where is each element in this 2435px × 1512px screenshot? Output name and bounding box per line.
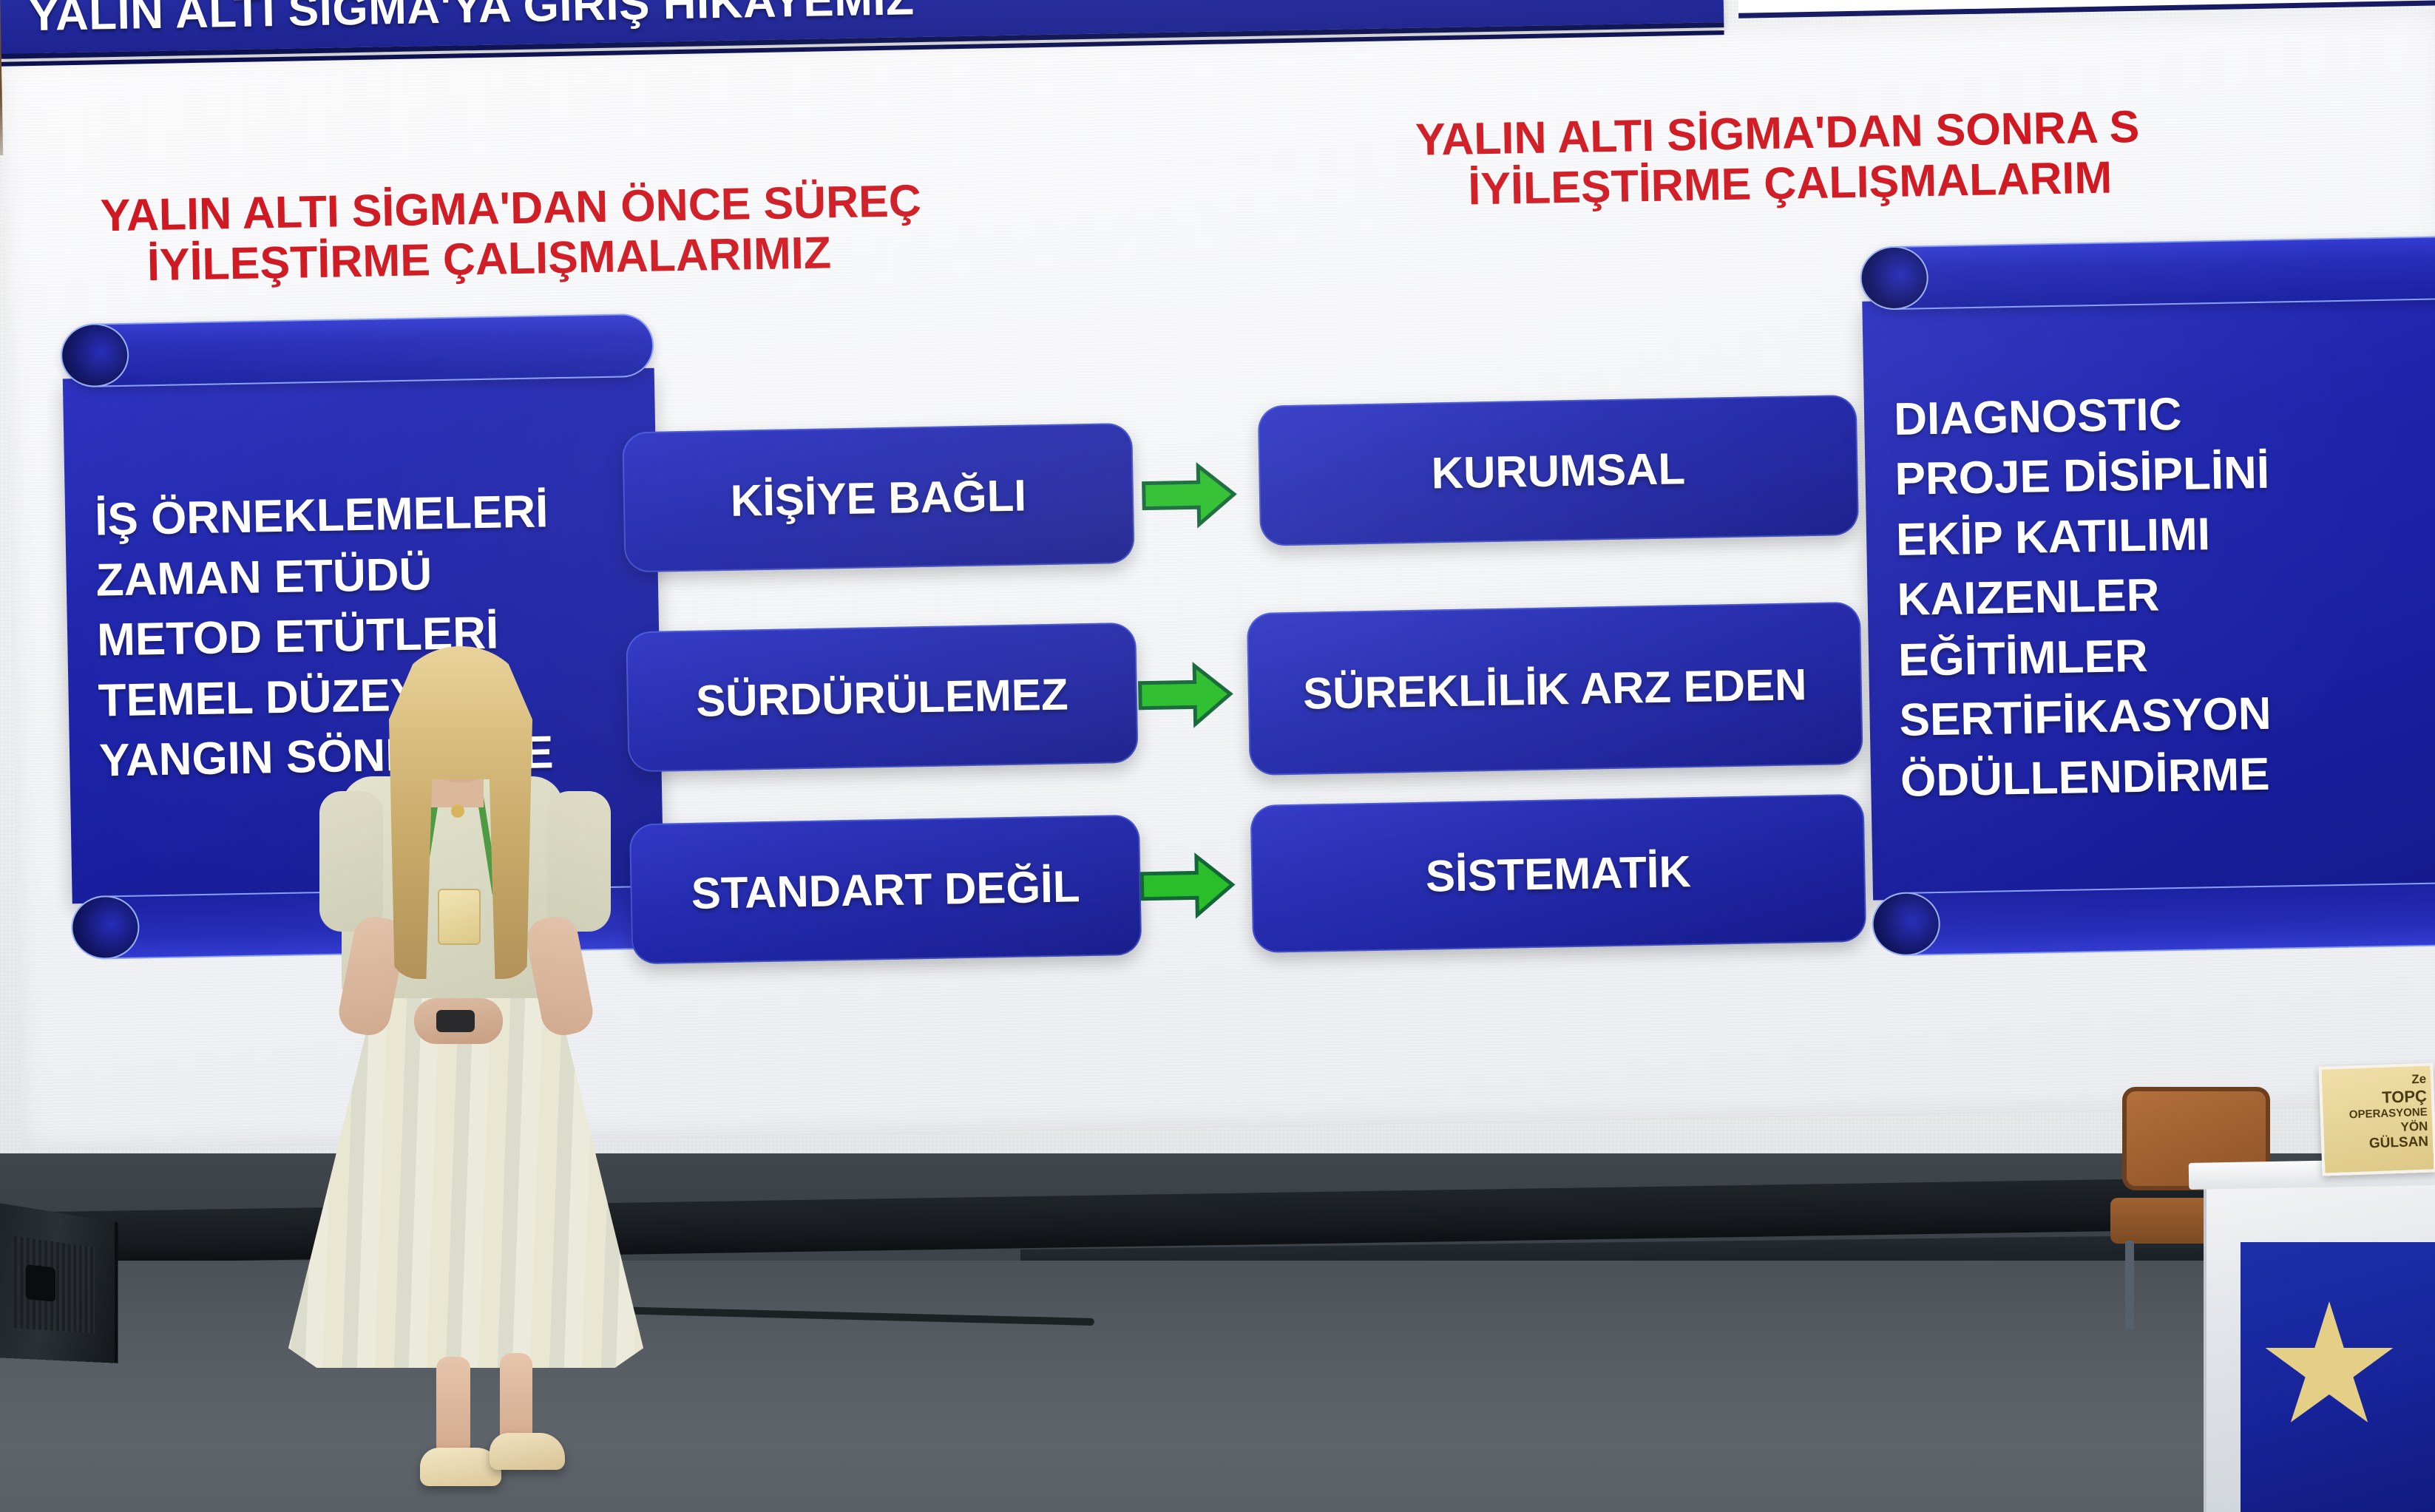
arrow-right-icon-2 xyxy=(1137,659,1234,730)
list-item: EKİP KATILIMI xyxy=(1895,501,2435,569)
chair-leg xyxy=(2125,1241,2134,1329)
flow-after-label-3: SİSTEMATİK xyxy=(1425,846,1691,902)
flow-after-label-1: KURUMSAL xyxy=(1431,443,1686,498)
list-item: EĞİTİMLER xyxy=(1897,621,2435,689)
flow-before-box-3: STANDART DEĞİL xyxy=(629,815,1142,965)
flow-after-label-2: SÜREKLİLİK ARZ EDEN xyxy=(1303,659,1807,719)
right-section-heading: YALIN ALTI SİGMA'DAN SONRA S İYİLEŞTİRME… xyxy=(1415,101,2141,216)
list-item: DIAGNOSTIC xyxy=(1893,380,2435,448)
speaker-name-card: Ze TOPÇ OPERASYONE YÖN GÜLSAN xyxy=(2318,1062,2435,1176)
list-item: PROJE DİSİPLİNİ xyxy=(1894,441,2435,509)
flow-before-label-3: STANDART DEĞİL xyxy=(691,861,1080,919)
flow-after-box-1: KURUMSAL xyxy=(1258,395,1859,546)
presenter-sleeve-right xyxy=(547,791,611,932)
arrow-right-icon-3 xyxy=(1139,850,1236,921)
stage-monitor-speaker xyxy=(0,1201,118,1363)
arrow-right-icon-1 xyxy=(1140,459,1238,531)
presentation-clicker xyxy=(436,1010,475,1032)
slide-title: YALIN ALTI SİGMA'YA GİRİŞ HİKAYEMİZ xyxy=(0,0,915,42)
flow-before-box-2: SÜRDÜRÜLEMEZ xyxy=(626,623,1138,773)
flow-after-box-2: SÜREKLİLİK ARZ EDEN xyxy=(1247,602,1863,776)
presenter-sleeve-left xyxy=(319,791,383,932)
list-item: İŞ ÖRNEKLEMELERİ xyxy=(95,481,657,549)
presenter-badge xyxy=(438,889,481,945)
conference-stage-photo: YALIN ALTI SİGMA'YA GİRİŞ HİKAYEMİZ HOLD… xyxy=(0,0,2435,1512)
flow-before-box-1: KİŞİYE BAĞLI xyxy=(622,423,1134,573)
flow-before-label-1: KİŞİYE BAĞLI xyxy=(730,469,1026,526)
after-items-list: DIAGNOSTIC PROJE DİSİPLİNİ EKİP KATILIMI… xyxy=(1862,290,2435,900)
left-section-heading: YALIN ALTI SİGMA'DAN ÖNCE SÜREÇ İYİLEŞTİ… xyxy=(100,175,923,291)
presenter-shoe-right xyxy=(490,1433,565,1470)
speaker-handle xyxy=(26,1264,55,1302)
list-item: KAIZENLER xyxy=(1897,561,2435,629)
after-scroll-box: DIAGNOSTIC PROJE DİSİPLİNİ EKİP KATILIMI… xyxy=(1861,235,2435,956)
list-item: ÖDÜLLENDİRME xyxy=(1900,742,2435,810)
list-item: SERTİFİKASYON xyxy=(1899,682,2435,750)
presenter-necklace xyxy=(451,804,464,818)
presenter xyxy=(325,651,606,1512)
presenter-leg-left xyxy=(436,1357,470,1457)
list-item: ZAMAN ETÜDÜ xyxy=(95,541,658,608)
flow-before-label-2: SÜRDÜRÜLEMEZ xyxy=(696,668,1069,726)
flow-after-box-3: SİSTEMATİK xyxy=(1250,794,1867,953)
name-card-line-5: GÜLSAN xyxy=(2324,1133,2429,1153)
